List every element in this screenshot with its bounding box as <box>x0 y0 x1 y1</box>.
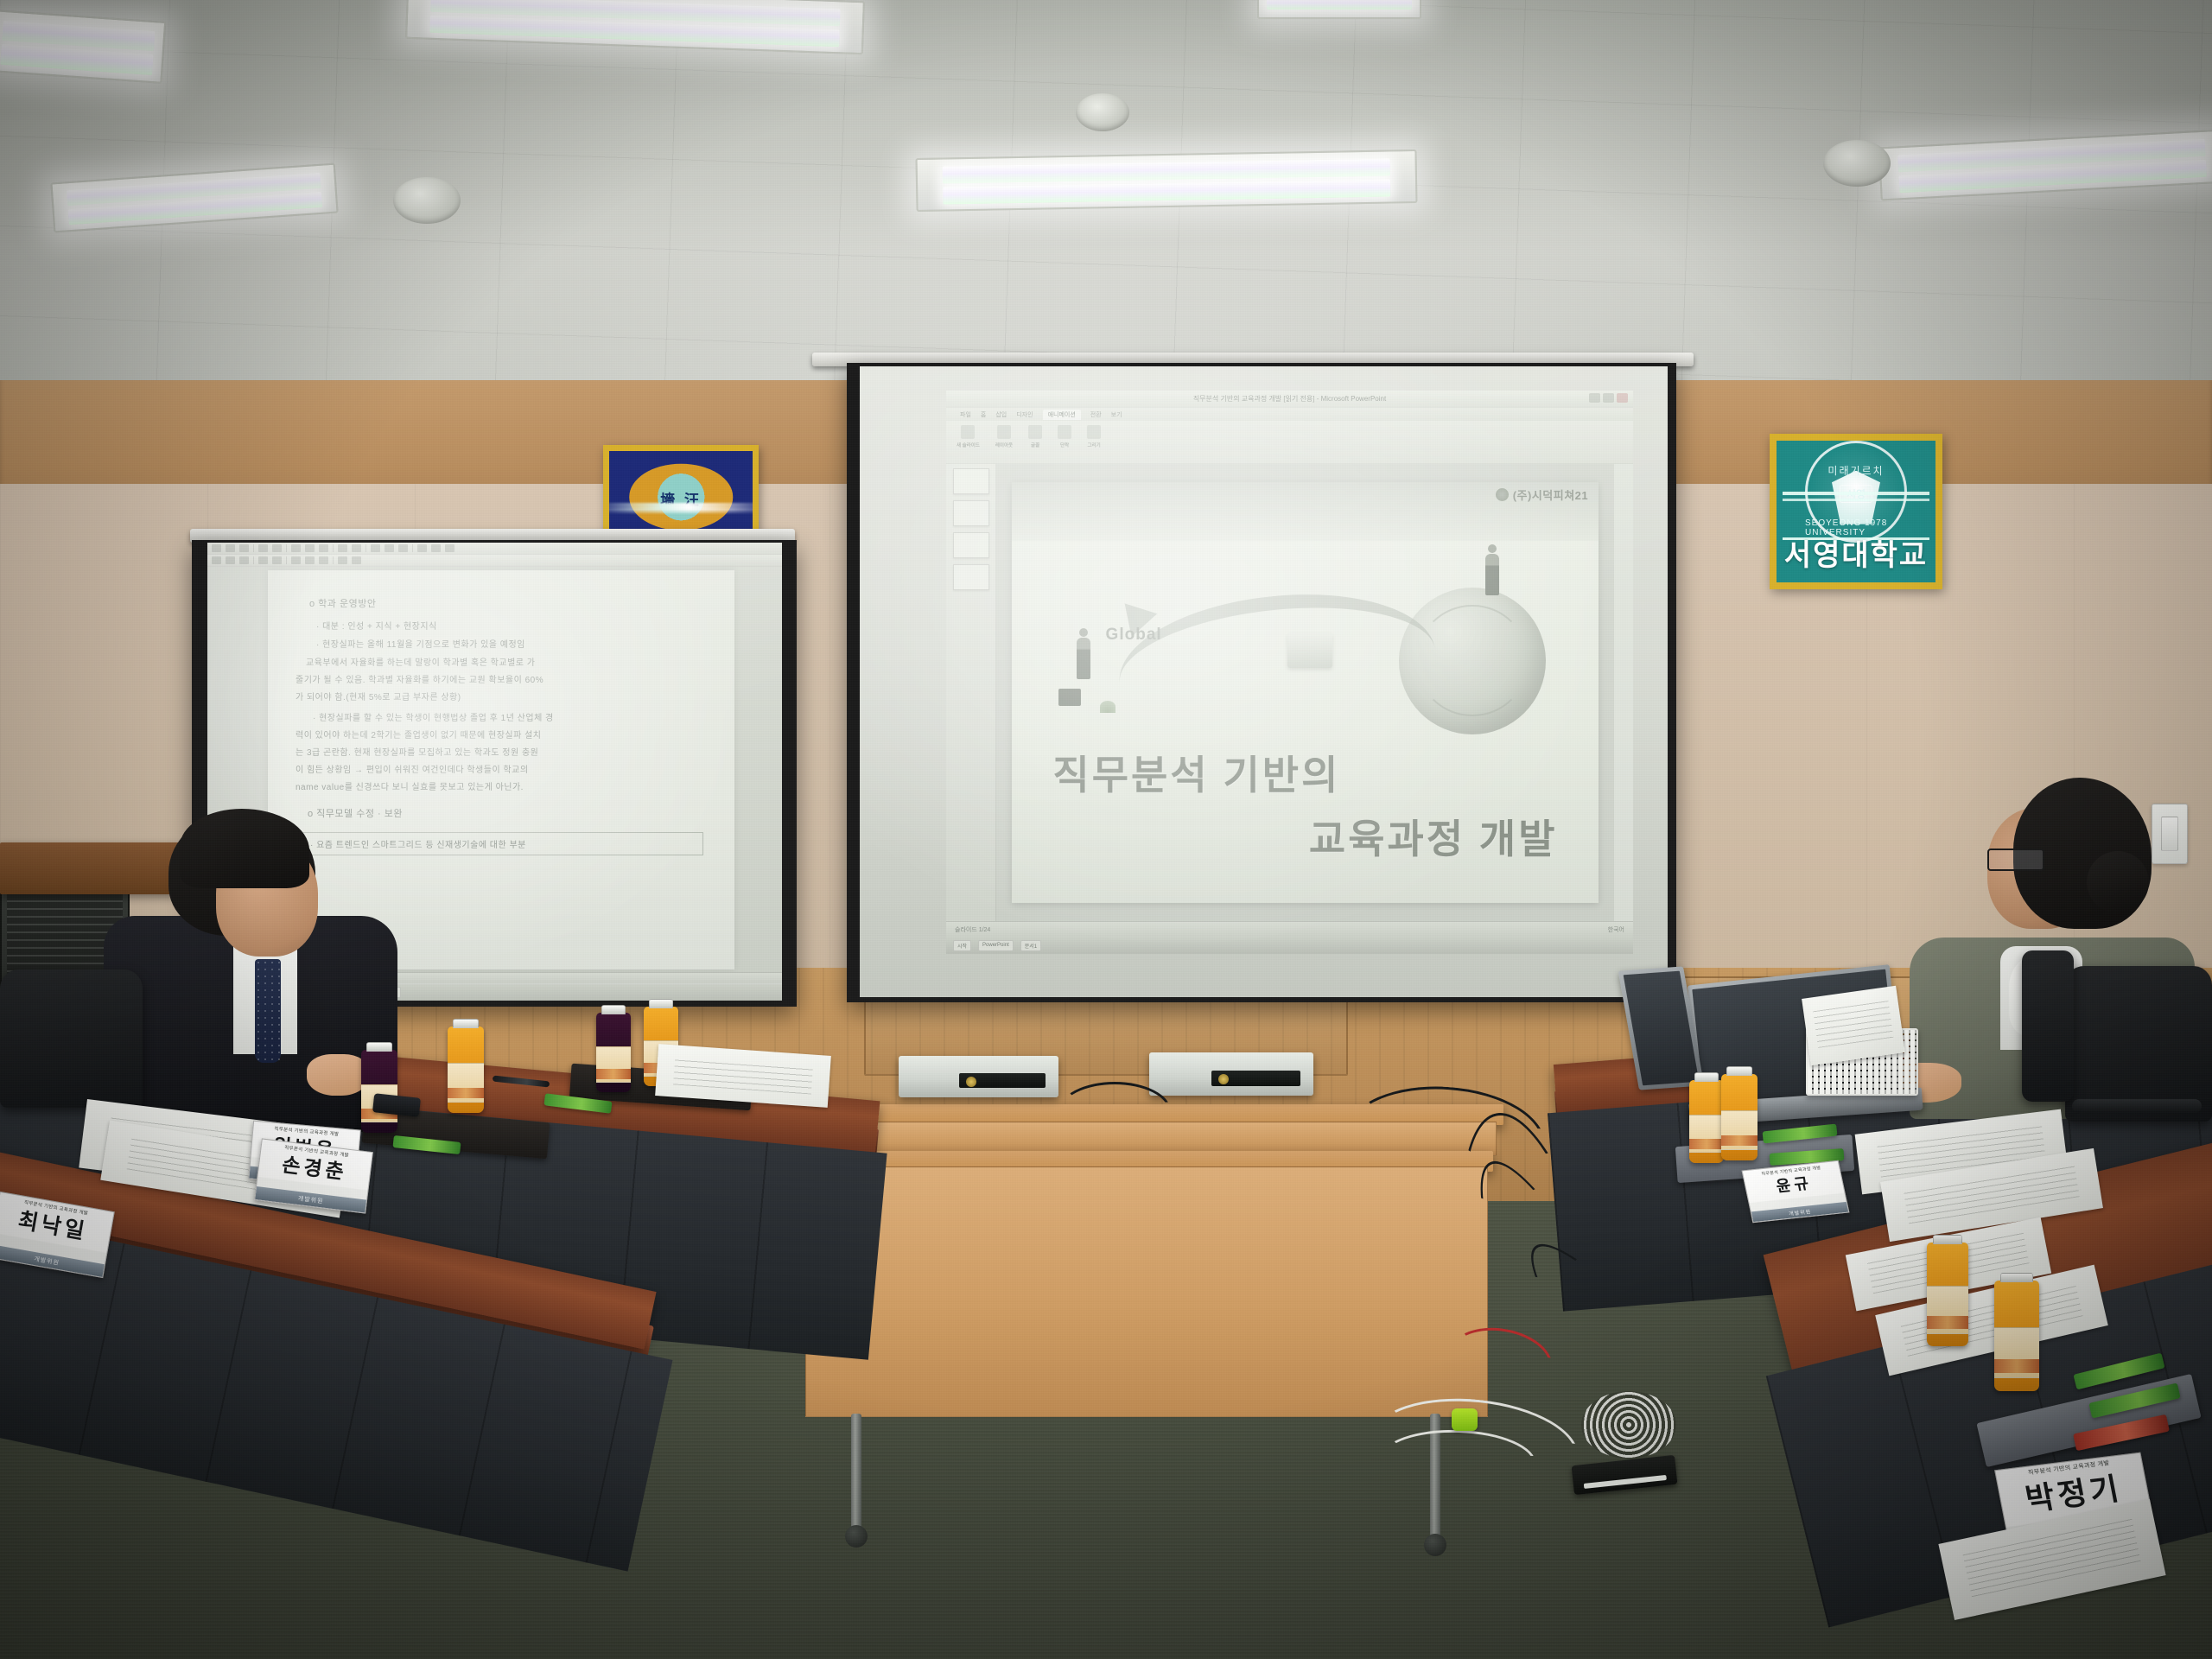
bottle-cap <box>453 1019 479 1028</box>
layout-icon[interactable] <box>997 425 1011 439</box>
ribbon-group-label: 레이아웃 <box>995 442 1013 448</box>
document-stack <box>1802 986 1905 1066</box>
bottle-cap <box>1726 1066 1752 1076</box>
border-icon[interactable] <box>319 556 328 564</box>
bottle-label <box>1927 1286 1968 1333</box>
textbox-icon[interactable] <box>258 556 268 564</box>
ribbon[interactable]: 새 슬라이드 레이아웃 글꼴 단락 그리기 <box>946 421 1633 464</box>
hair-bun <box>2087 851 2149 913</box>
university-name: 서영대학교 <box>1777 531 1935 574</box>
slide-thumbnail[interactable] <box>953 532 989 558</box>
projector-lens-icon <box>966 1077 976 1087</box>
orange-juice-bottle <box>1689 1080 1724 1163</box>
slide-watermark: Global <box>1106 626 1162 645</box>
cable-clip-icon <box>1452 1408 1478 1431</box>
shape-line-icon[interactable] <box>212 556 221 564</box>
bold-icon[interactable] <box>371 544 380 552</box>
eyeglasses-icon <box>1987 849 2044 871</box>
orange-juice-bottle <box>448 1027 484 1113</box>
slide-thumbnail[interactable] <box>953 468 989 494</box>
paragraph-icon[interactable] <box>1058 425 1071 439</box>
company-logo: (주)시덕피쳐21 <box>1496 486 1588 503</box>
bottle-cap <box>601 1005 626 1014</box>
ceiling-speaker-icon <box>1076 93 1129 131</box>
ribbon-group-paragraph[interactable]: 단락 <box>1058 425 1071 448</box>
doc-line: 는 3급 곤란함. 현재 현장실파를 모집하고 있는 학과도 정원 충원 <box>296 745 712 758</box>
doc-line: 줄기가 될 수 있음. 학과별 자율화를 하기에는 교원 확보율이 60% <box>296 672 712 685</box>
bottle-label <box>448 1063 484 1103</box>
italic-icon[interactable] <box>385 544 394 552</box>
fluorescent-light-icon <box>0 10 166 84</box>
company-logo-icon <box>1496 488 1509 501</box>
grape-juice-bottle <box>596 1013 631 1092</box>
projector-lens-icon <box>1218 1074 1229 1084</box>
bottle-label <box>1689 1115 1724 1153</box>
fluorescent-light-icon <box>916 149 1418 212</box>
table-icon[interactable] <box>445 544 454 552</box>
bottle-cap <box>2000 1273 2032 1282</box>
orange-juice-bottle <box>1721 1074 1758 1160</box>
university-plaque: 미래기르치 서영 SEOYEONG 1978 UNIVERSITY 서영대학교 <box>1770 434 1942 589</box>
ribbon-group-label: 새 슬라이드 <box>957 442 980 448</box>
print-icon[interactable] <box>258 544 268 552</box>
cut-icon[interactable] <box>291 544 301 552</box>
font-icon[interactable] <box>1028 425 1042 439</box>
slide-counter: 슬라이드 1/24 <box>955 925 990 934</box>
os-taskbar[interactable]: 시작 PowerPoint 문서1 <box>946 937 1633 954</box>
ribbon-group-label: 단락 <box>1060 442 1069 448</box>
hand <box>307 1054 369 1096</box>
office-chair[interactable] <box>0 969 143 1108</box>
new-doc-icon[interactable] <box>212 544 221 552</box>
bottle-label <box>1994 1327 2039 1378</box>
company-logo-text: (주)시덕피쳐21 <box>1513 486 1588 503</box>
grape-juice-bottle <box>361 1050 397 1133</box>
current-slide: (주)시덕피쳐21 Global 직무분석 기반의 <box>1012 482 1599 903</box>
ceiling-speaker-icon <box>393 177 461 224</box>
shape-rect-icon[interactable] <box>226 556 235 564</box>
powerpoint-statusbar: 슬라이드 1/24 한국어 <box>946 921 1633 937</box>
businessman-figure-icon <box>1485 554 1499 595</box>
briefcase-icon <box>1058 689 1081 706</box>
table-caster <box>1424 1534 1446 1556</box>
necktie <box>255 959 281 1063</box>
underline-icon[interactable] <box>398 544 408 552</box>
sprout-icon <box>1100 701 1116 713</box>
slide-title: 직무분석 기반의 교육과정 개발 <box>1012 744 1599 865</box>
highlight-icon[interactable] <box>305 556 315 564</box>
shape-ellipse-icon[interactable] <box>239 556 249 564</box>
nameplate: 직무분석 기반의 교육과정 개발 윤규 개발위원 <box>1742 1160 1850 1223</box>
window-titlebar: 직무분석 기반의 교육과정 개발 [읽기 전용] - Microsoft Pow… <box>946 391 1633 408</box>
ribbon-group-label: 그리기 <box>1088 442 1101 448</box>
redo-icon[interactable] <box>352 544 361 552</box>
tab-transition[interactable]: 전환 <box>1090 410 1102 419</box>
taskbar-item[interactable]: PowerPoint <box>978 940 1014 951</box>
slide-stage: (주)시덕피쳐21 Global 직무분석 기반의 <box>996 464 1614 921</box>
rising-arrow-icon <box>1113 580 1440 721</box>
ribbon-tabs[interactable]: 파일 홈 삽입 디자인 애니메이션 전환 보기 <box>946 408 1633 421</box>
doc-line: 력이 있어야 하는데 2학기는 졸업생이 없기 때문에 현장실파 설치 <box>296 728 712 741</box>
slide-title-line1: 직무분석 기반의 <box>1052 744 1557 801</box>
seated-man-left <box>104 804 467 1132</box>
copy-icon[interactable] <box>305 544 315 552</box>
doc-line: 교육부에서 자율화를 하는데 말랑이 학과별 혹은 학교별로 가 <box>306 655 712 668</box>
tab-animation[interactable]: 애니메이션 <box>1043 410 1081 420</box>
align-left-icon[interactable] <box>417 544 427 552</box>
businessman-figure-icon <box>1077 638 1090 679</box>
tab-home[interactable]: 홈 <box>981 410 986 419</box>
window-controls[interactable] <box>1589 393 1628 403</box>
spellcheck-icon[interactable] <box>352 556 361 564</box>
slide-thumbnail-pane[interactable] <box>946 464 996 921</box>
bottle-cap <box>649 999 674 1008</box>
projector <box>899 1056 1058 1097</box>
fluorescent-light-icon <box>1257 0 1421 19</box>
bottle-label <box>596 1046 631 1083</box>
language-indicator: 한국어 <box>1608 925 1624 934</box>
office-chair[interactable] <box>2022 950 2074 1102</box>
bottle-cap <box>1933 1235 1963 1244</box>
bottle-cap <box>1694 1072 1719 1082</box>
gift-box-icon <box>1287 633 1332 668</box>
undo-icon[interactable] <box>338 544 347 552</box>
ceiling-speaker-icon <box>1823 140 1891 187</box>
align-center-icon[interactable] <box>431 544 441 552</box>
image-icon[interactable] <box>272 556 282 564</box>
slide-title-line2: 교육과정 개발 <box>1052 808 1557 865</box>
tab-insert[interactable]: 삽입 <box>995 410 1007 419</box>
window-title-text: 직무분석 기반의 교육과정 개발 [읽기 전용] - Microsoft Pow… <box>1193 394 1386 404</box>
orange-juice-bottle <box>1927 1243 1968 1346</box>
office-chair[interactable] <box>2065 966 2212 1122</box>
slide-thumbnail[interactable] <box>953 500 989 526</box>
bottle-label <box>1721 1110 1758 1150</box>
slide-artwork: Global <box>1012 541 1599 751</box>
open-icon[interactable] <box>226 544 235 552</box>
chair-armrest[interactable] <box>2072 1099 2202 1113</box>
doc-line: 가 되어야 함.(현재 5%로 교급 부자른 상황) <box>296 690 712 702</box>
drawing-icon[interactable] <box>1087 425 1101 439</box>
tab-view[interactable]: 보기 <box>1111 410 1122 419</box>
orange-juice-bottle <box>1994 1281 2039 1391</box>
minimize-icon[interactable] <box>1589 393 1600 403</box>
taskbar-item[interactable]: 문서1 <box>1020 940 1041 951</box>
projector <box>1149 1052 1313 1096</box>
doc-line: · 대분 : 인성 + 지식 + 현장지식 <box>316 619 712 632</box>
font-color-icon[interactable] <box>291 556 301 564</box>
ribbon-group-label: 글꼴 <box>1031 442 1039 448</box>
document-toolbar-secondary[interactable] <box>207 555 782 567</box>
bottle-cap <box>366 1042 392 1052</box>
projection-screen-right: 직무분석 기반의 교육과정 개발 [읽기 전용] - Microsoft Pow… <box>860 366 1668 997</box>
powerpoint-window: 직무분석 기반의 교육과정 개발 [읽기 전용] - Microsoft Pow… <box>946 391 1633 954</box>
start-button[interactable]: 시작 <box>953 940 971 951</box>
slide-thumbnail[interactable] <box>953 564 989 590</box>
presenter-table-face <box>805 1166 1488 1417</box>
maximize-icon[interactable] <box>1603 393 1614 403</box>
doc-line: · 현장실파를 할 수 있는 학생이 현행법상 졸업 후 1년 산업체 경 <box>313 710 712 723</box>
table-leg <box>851 1414 861 1535</box>
doc-line: · 현장실파는 올해 11월을 기점으로 변화가 있을 예정임 <box>316 637 712 650</box>
save-icon[interactable] <box>239 544 249 552</box>
new-slide-icon[interactable] <box>961 425 975 439</box>
preview-icon[interactable] <box>272 544 282 552</box>
doc-heading: o 학과 운영방안 <box>309 596 712 610</box>
table-caster <box>845 1525 868 1548</box>
doc-line: 이 힘든 상황임 → 편입이 쉬워진 여건인데다 학생들이 학교의 <box>296 762 712 775</box>
document-toolbar[interactable] <box>207 543 782 555</box>
tab-design[interactable]: 디자인 <box>1016 410 1033 419</box>
hair-top <box>180 809 309 888</box>
conference-room-photo: 墻 汪 미래기르치 서영 SEOYEONG 1978 UNIVERSITY 서영… <box>0 0 2212 1659</box>
ribbon-group-layout[interactable]: 레이아웃 <box>995 425 1013 448</box>
tab-file[interactable]: 파일 <box>960 410 971 419</box>
doc-line: name value를 신경쓰다 보니 실효를 못보고 있는게 아닌가. <box>296 779 712 792</box>
ribbon-group-new-slide[interactable]: 새 슬라이드 <box>957 425 980 448</box>
paste-icon[interactable] <box>319 544 328 552</box>
zoom-icon[interactable] <box>338 556 347 564</box>
ribbon-group-font[interactable]: 글꼴 <box>1028 425 1042 448</box>
coiled-cables <box>1581 1391 1676 1459</box>
ribbon-group-drawing[interactable]: 그리기 <box>1087 425 1101 448</box>
close-icon[interactable] <box>1617 393 1628 403</box>
